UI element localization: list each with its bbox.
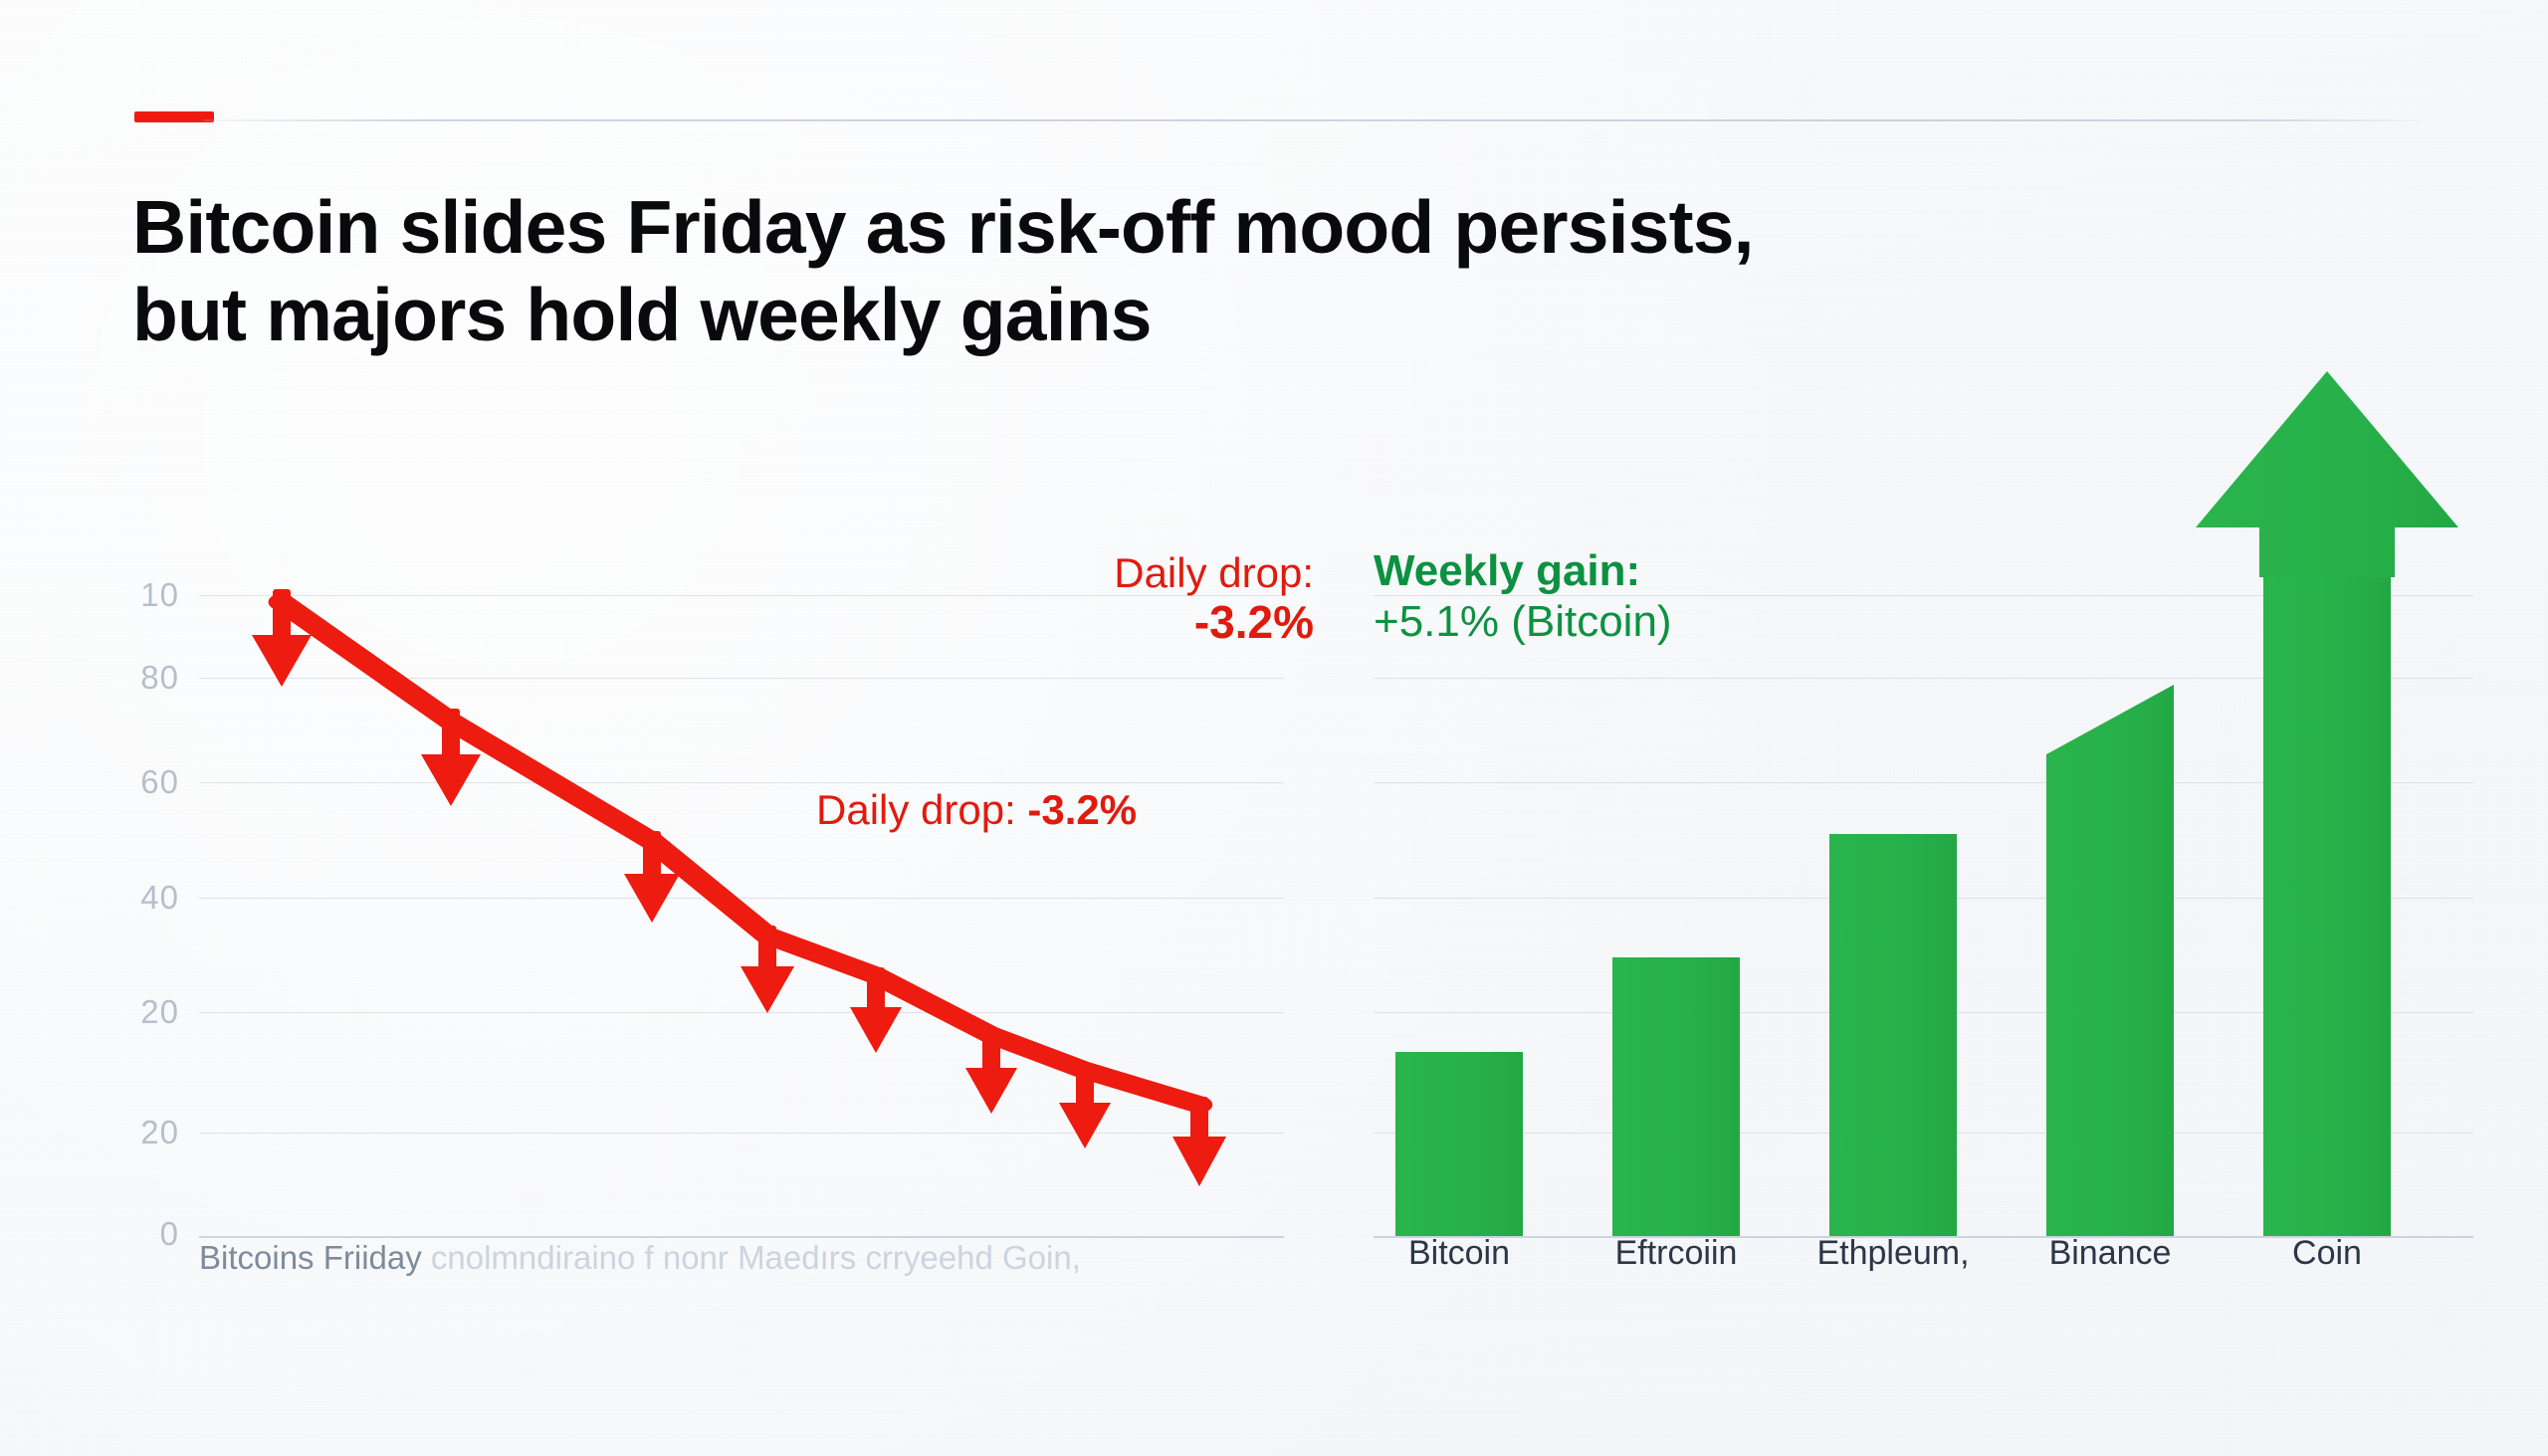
down-arrow-icon: [421, 709, 481, 806]
line-chart: 10 80 60 40 20 20 0: [119, 537, 1314, 1334]
daily-drop-annotation: Daily drop: -3.2%: [1114, 549, 1314, 649]
bar-coin: [2196, 371, 2458, 1236]
bar-eftrcoiin: [1612, 957, 1740, 1236]
down-arrow-icon: [965, 1028, 1017, 1114]
header-divider-line: [204, 119, 2422, 121]
headline-line-1: Bitcoin slides Friday as risk-off mood p…: [132, 184, 2372, 272]
bar-label-3: Binance: [2049, 1234, 2172, 1273]
bar-ethpleum: [1829, 834, 1957, 1236]
bar-binance: [2046, 685, 2174, 1236]
down-arrow-icon: [850, 967, 902, 1053]
down-arrow-icon: [252, 589, 312, 687]
daily-drop-inline-label: Daily drop:: [816, 786, 1027, 833]
weekly-gain-label: Weekly gain:: [1374, 545, 1672, 596]
headline-line-2: but majors hold weekly gains: [132, 272, 2372, 359]
data-point-markers: [119, 537, 1314, 1334]
bar-label-1: Eftrcoiin: [1615, 1234, 1738, 1273]
daily-drop-annotation-inline: Daily drop: -3.2%: [816, 786, 1137, 834]
bar-series-svg: [1374, 537, 2488, 1334]
daily-drop-label: Daily drop:: [1114, 549, 1314, 596]
x-axis-caption: Bitcoins Friiday cnolmndiraino f nonr Ma…: [199, 1239, 1081, 1277]
x-axis-caption-garbled: cnolmndiraino f nonr Maedırs crryeehd Go…: [431, 1239, 1081, 1276]
down-arrow-icon: [1172, 1097, 1226, 1186]
bar-bitcoin: [1395, 1052, 1523, 1236]
weekly-gain-value: +5.1% (Bitcoin): [1374, 596, 1672, 648]
down-arrow-icon: [1059, 1063, 1111, 1148]
bar-label-0: Bitcoin: [1408, 1234, 1510, 1273]
weekly-gain-annotation: Weekly gain: +5.1% (Bitcoin): [1374, 545, 1672, 648]
down-arrow-icon: [624, 831, 680, 923]
bar-label-2: Ethpleum,: [1816, 1234, 1969, 1273]
daily-drop-value: -3.2%: [1114, 596, 1314, 649]
red-accent-bar: [134, 111, 214, 122]
up-arrow-icon: [2196, 371, 2458, 577]
bar-label-4: Coin: [2292, 1234, 2362, 1273]
down-arrow-icon: [741, 926, 794, 1013]
daily-drop-inline-value: -3.2%: [1027, 786, 1137, 833]
poster-canvas: Bitcoin slides Friday as risk-off mood p…: [0, 0, 2548, 1456]
x-axis-caption-legible: Bitcoins Friiday: [199, 1239, 431, 1276]
bar-chart: Weekly gain: +5.1% (Bitcoin) Bitcoin Eft…: [1374, 537, 2488, 1334]
page-title: Bitcoin slides Friday as risk-off mood p…: [132, 184, 2372, 359]
